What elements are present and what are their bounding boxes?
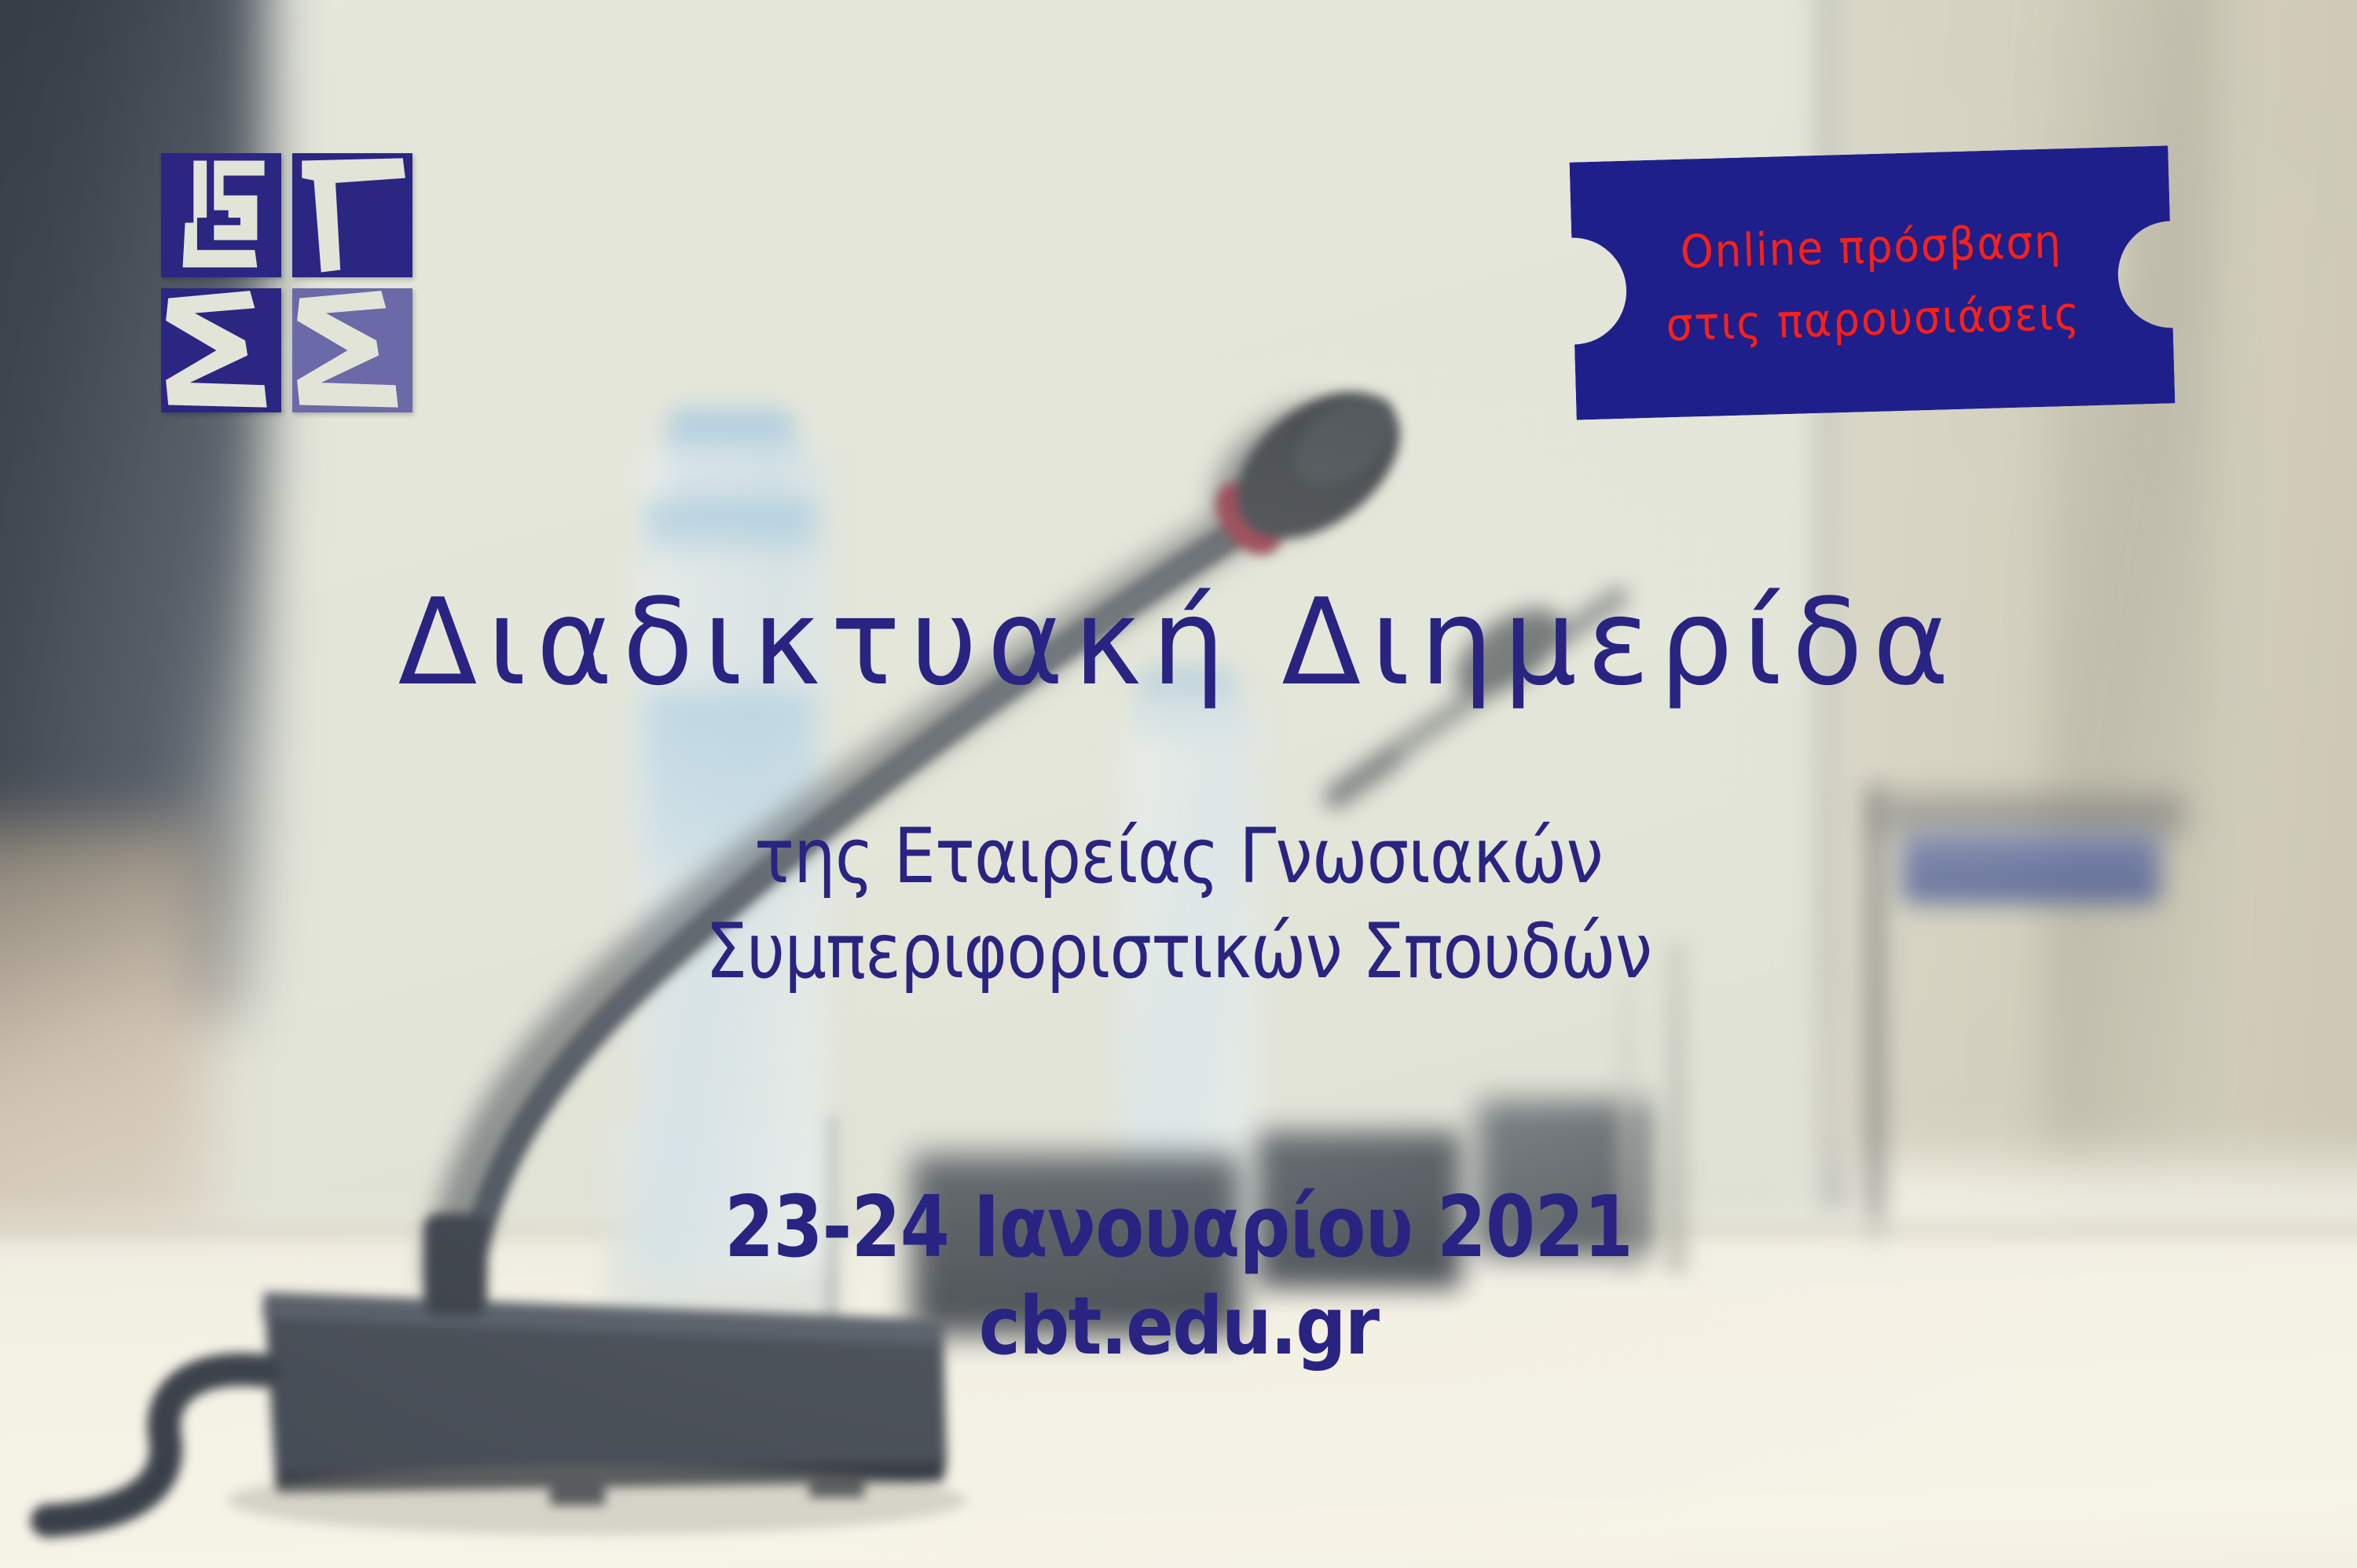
subtitle-line-1: της Εταιρείας Γνωσιακών [141, 809, 2216, 904]
event-date: 23-24 Ιανουαρίου 2021 [189, 1185, 2168, 1271]
event-poster: Online πρόσβαση στις παρουσιάσεις Διαδικ… [0, 0, 2357, 1568]
footer-block: 23-24 Ιανουαρίου 2021 cbt.edu.gr [0, 1185, 2357, 1367]
event-url[interactable]: cbt.edu.gr [141, 1287, 2216, 1367]
page-title: Διαδικτυακή Διημερίδα [35, 583, 2322, 702]
subtitle-line-2: Συμπεριφοριστικών Σπουδών [141, 904, 2216, 999]
organisation-subtitle: της Εταιρείας Γνωσιακών Συμπεριφοριστικώ… [141, 809, 2216, 999]
poster-text: Διαδικτυακή Διημερίδα της Εταιρείας Γνωσ… [0, 0, 2357, 1568]
